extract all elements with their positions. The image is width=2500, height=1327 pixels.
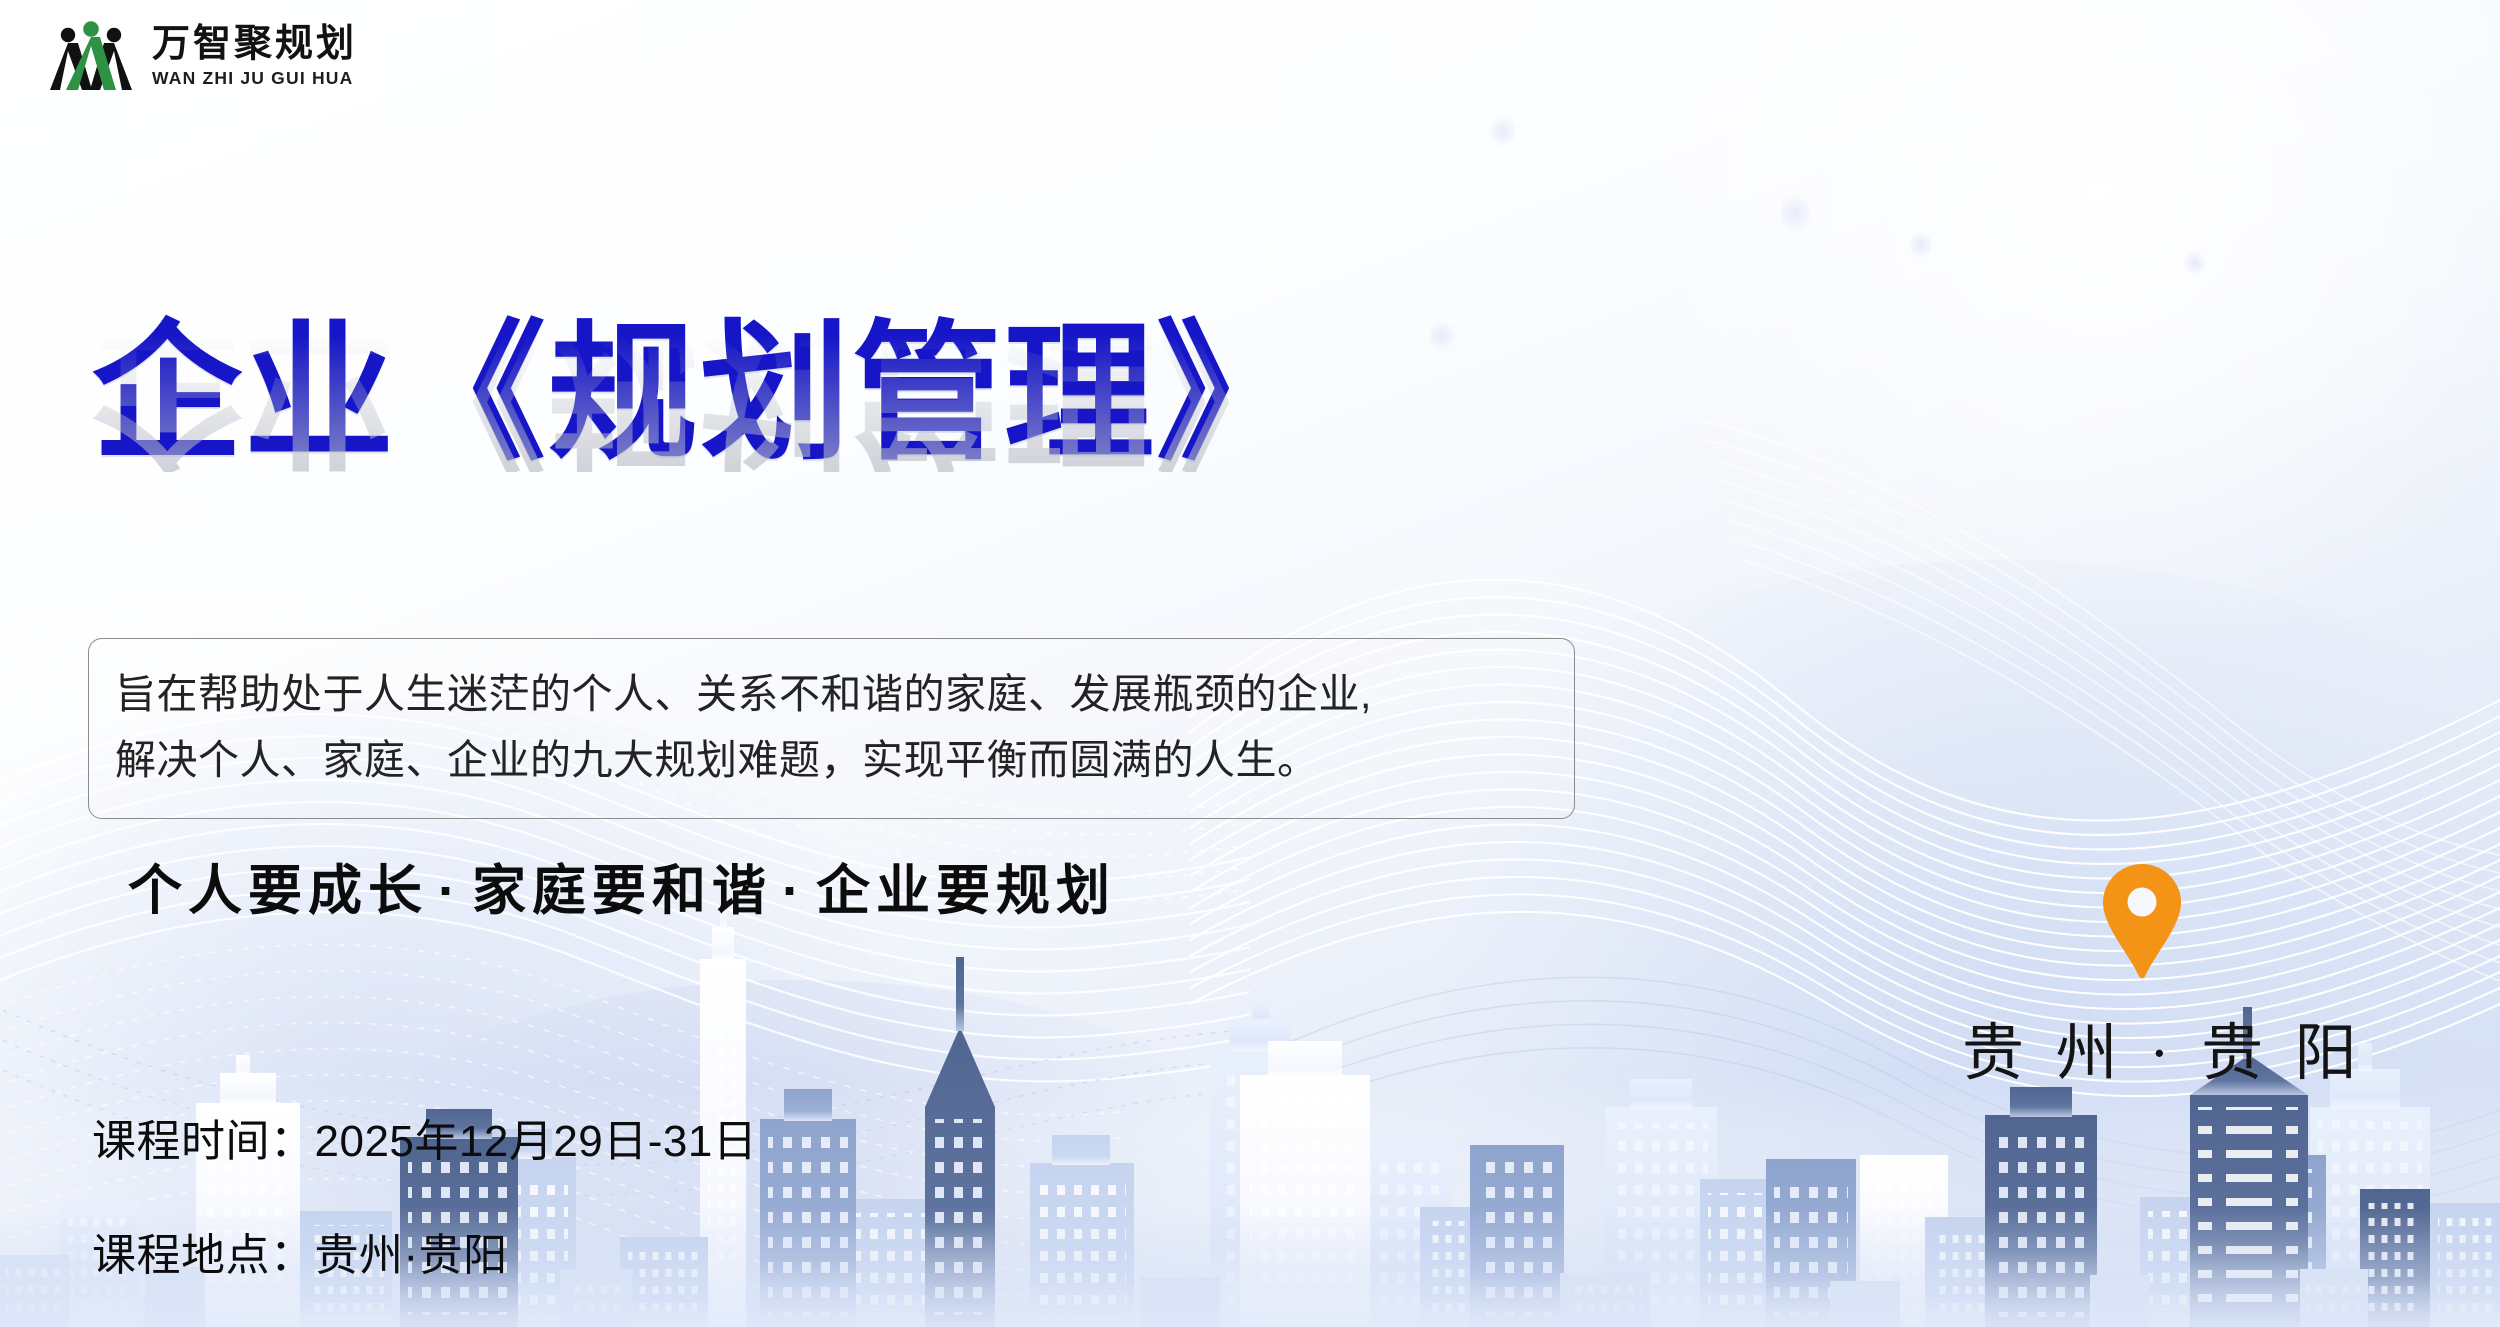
- logo-mark-icon: [48, 18, 134, 94]
- course-info: 课程时间：2025年12月29日-31日 课程地点：贵州·贵阳: [92, 1105, 757, 1283]
- brand-logo: 万智聚规划 WAN ZHI JU GUI HUA: [48, 18, 357, 94]
- slogan-part-1: 个人要成长: [128, 861, 428, 921]
- poster-canvas: 万智聚规划 WAN ZHI JU GUI HUA 企业《规划管理》 企业《规划管…: [0, 0, 2500, 1327]
- logo-name-en: WAN ZHI JU GUI HUA: [152, 70, 357, 88]
- course-place: 课程地点：贵州·贵阳: [92, 1219, 757, 1283]
- course-time: 课程时间：2025年12月29日-31日: [92, 1105, 757, 1169]
- slogan-part-2: 家庭要和谐: [472, 861, 772, 921]
- location-name: 贵 州 · 贵 阳: [1962, 1002, 2322, 1092]
- logo-name-cn: 万智聚规划: [152, 25, 357, 63]
- map-pin-icon: [2099, 862, 2185, 980]
- location-block: 贵 州 · 贵 阳: [1962, 862, 2322, 1092]
- hero-title-block: 企业《规划管理》 企业《规划管理》: [92, 318, 1652, 628]
- description-line-1: 旨在帮助处于人生迷茫的个人、关系不和谐的家庭、发展瓶颈的企业,: [115, 661, 1548, 727]
- slogan-separator-2: ·: [772, 861, 816, 921]
- description-line-2: 解决个人、家庭、企业的九大规划难题，实现平衡而圆满的人生。: [115, 727, 1548, 793]
- slogan-separator-1: ·: [428, 861, 472, 921]
- slogan-part-3: 企业要规划: [816, 861, 1116, 921]
- slogan: 个人要成长·家庭要和谐·企业要规划: [128, 846, 1116, 925]
- description-box: 旨在帮助处于人生迷茫的个人、关系不和谐的家庭、发展瓶颈的企业, 解决个人、家庭、…: [88, 638, 1575, 819]
- page-title-reflection: 企业《规划管理》: [92, 322, 1652, 472]
